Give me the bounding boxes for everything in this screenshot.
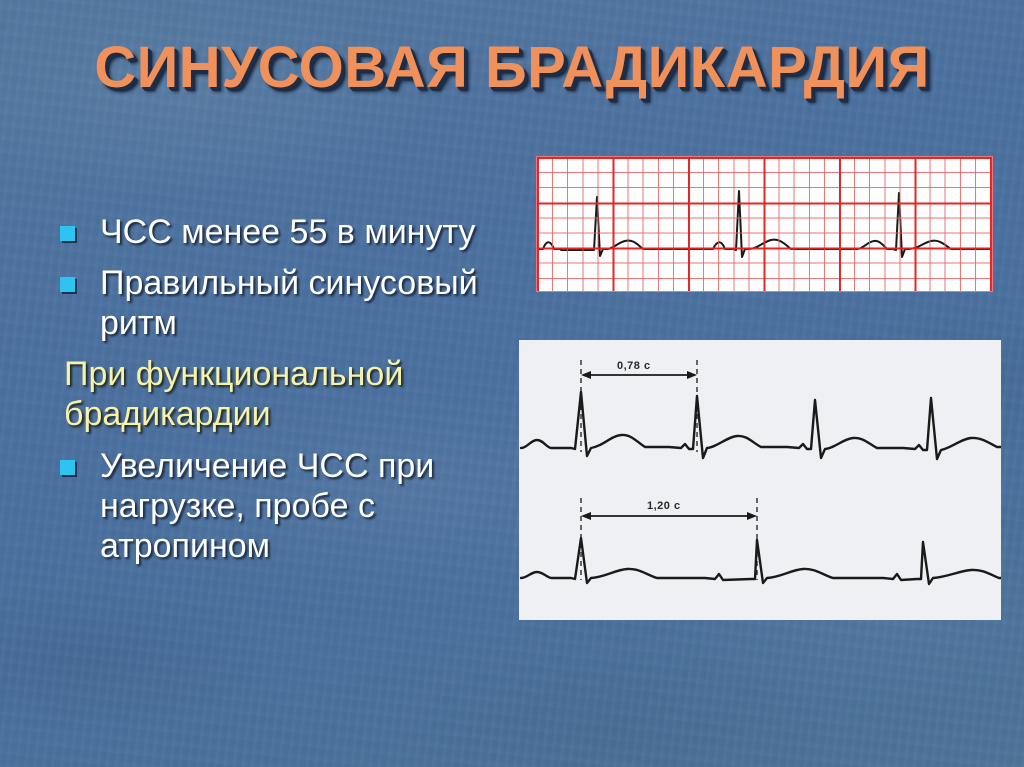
list-item-label: ЧСС менее 55 в минуту — [52, 212, 522, 252]
ecg-comparison-figure: 0,78 с 1,20 с — [519, 340, 1001, 620]
ecg-graph-paper-figure — [537, 157, 992, 291]
ecg-trace-normal: 0,78 с — [519, 340, 1001, 480]
page-title: СИНУСОВАЯ БРАДИКАРДИЯ — [0, 34, 1024, 101]
interval-label-normal: 0,78 с — [617, 360, 651, 372]
bullet-marker-icon — [60, 277, 75, 292]
list-item-highlighted: При функциональной брадикардии — [52, 354, 522, 434]
list-item-label: Правильный синусовый ритм — [52, 263, 522, 343]
list-item: ЧСС менее 55 в минуту — [52, 212, 522, 252]
bullet-list: ЧСС менее 55 в минуту Правильный синусов… — [52, 212, 522, 577]
interval-label-bradycardia: 1,20 с — [647, 500, 681, 512]
ecg-trace-bradycardia: 1,20 с — [519, 480, 1001, 620]
bullet-marker-icon — [60, 460, 75, 475]
list-item: Увеличение ЧСС при нагрузке, пробе с атр… — [52, 446, 522, 566]
list-item-label: При функциональной брадикардии — [52, 354, 522, 434]
slide-canvas: СИНУСОВАЯ БРАДИКАРДИЯ ЧСС менее 55 в мин… — [0, 0, 1024, 767]
bullet-marker-icon — [60, 226, 75, 241]
ecg-bold-grid — [537, 157, 992, 291]
list-item-label: Увеличение ЧСС при нагрузке, пробе с атр… — [52, 446, 522, 566]
ecg-waveform-normal — [519, 340, 1001, 480]
list-item: Правильный синусовый ритм — [52, 263, 522, 343]
ecg-waveform-bradycardia — [519, 480, 1001, 620]
